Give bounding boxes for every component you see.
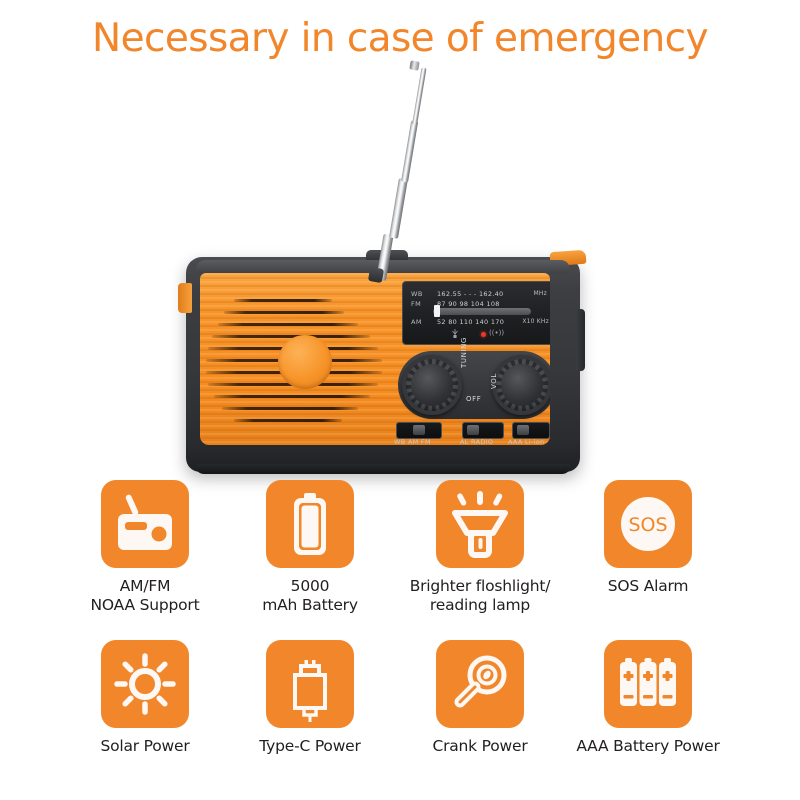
- battery-icon-tile: [266, 480, 354, 568]
- antenna-base: [368, 267, 384, 283]
- am-scale: 52 80 110 140 170: [437, 318, 504, 326]
- wb-scale: 162.55 - - - 162.40: [437, 290, 504, 298]
- band-switch-nub[interactable]: [413, 425, 425, 435]
- mode-switch-label: AL RADIO: [460, 438, 493, 445]
- aaa-batteries-icon-tile: [604, 640, 692, 728]
- left-side-tab: [178, 283, 192, 313]
- mode-switch-group[interactable]: AL RADIO: [462, 422, 504, 439]
- volume-knob[interactable]: [492, 355, 550, 415]
- battery-switch-nub[interactable]: [517, 425, 529, 435]
- feature-solar[interactable]: Solar Power: [60, 640, 230, 756]
- volume-knob-label: VOL: [490, 373, 498, 389]
- feature-label: 5000 mAh Battery: [225, 577, 395, 615]
- tuning-knob[interactable]: [402, 355, 462, 415]
- radio-icon-tile: [101, 480, 189, 568]
- antenna-segment: [401, 120, 418, 182]
- usb-plug-icon: [266, 640, 354, 728]
- antenna-tip: [409, 60, 419, 70]
- band-label-fm: FM: [411, 300, 421, 308]
- flashlight-icon: [436, 480, 524, 568]
- tuning-knob-label: TUNING: [460, 337, 468, 368]
- antenna-segment: [389, 178, 407, 239]
- feature-am-fm-noaa[interactable]: AM/FM NOAA Support: [60, 480, 230, 615]
- radio-front-face: WB 162.55 - - - 162.40 MHz FM 87 90 98 1…: [200, 273, 550, 445]
- product-photo: WB 162.55 - - - 162.40 MHz FM 87 90 98 1…: [0, 60, 800, 480]
- radio-base-foot: [196, 464, 570, 474]
- feature-sos[interactable]: SOS SOS Alarm: [563, 480, 733, 596]
- feature-label: Brighter floshlight/ reading lamp: [395, 577, 565, 615]
- feature-flashlight[interactable]: Brighter floshlight/ reading lamp: [395, 480, 565, 615]
- battery-switch-label: AAA Li-ion: [508, 438, 544, 445]
- battery-icon: [266, 480, 354, 568]
- band-switch-group[interactable]: WB AM FM: [396, 422, 442, 439]
- feature-label: Solar Power: [60, 737, 230, 756]
- signal-wave-icon: ((•)): [489, 329, 504, 337]
- right-side-strip: [576, 309, 585, 371]
- mode-switch-nub[interactable]: [467, 425, 479, 435]
- frequency-dial-display: WB 162.55 - - - 162.40 MHz FM 87 90 98 1…: [402, 281, 550, 345]
- sun-icon: [101, 640, 189, 728]
- fm-scale: 87 90 98 104 108: [437, 300, 500, 308]
- dial-track[interactable]: [433, 308, 531, 315]
- crank-icon: [436, 640, 524, 728]
- band-label-wb: WB: [411, 290, 423, 298]
- aaa-batteries-icon: [604, 640, 692, 728]
- dial-pointer[interactable]: [434, 305, 440, 317]
- page-title: Necessary in case of emergency: [0, 16, 800, 61]
- radio-body: WB 162.55 - - - 162.40 MHz FM 87 90 98 1…: [186, 257, 580, 472]
- knob-cradle: TUNING VOL OFF: [398, 351, 550, 419]
- radio-icon: [101, 480, 189, 568]
- feature-label: AM/FM NOAA Support: [60, 577, 230, 615]
- feature-grid: AM/FM NOAA Support 5000 mAh Battery Brig: [0, 480, 800, 800]
- antenna-segment: [412, 67, 427, 125]
- feature-label: Type-C Power: [225, 737, 395, 756]
- sos-icon: SOS: [604, 480, 692, 568]
- crank-icon-tile: [436, 640, 524, 728]
- usb-plug-icon-tile: [266, 640, 354, 728]
- feature-battery[interactable]: 5000 mAh Battery: [225, 480, 395, 615]
- unit-mhz: MHz: [534, 290, 547, 297]
- speaker-grille: [206, 293, 394, 431]
- off-label: OFF: [466, 395, 481, 403]
- feature-crank[interactable]: Crank Power: [395, 640, 565, 756]
- unit-khz: X10 KHz: [522, 318, 549, 325]
- lamp-indicator-icon: [451, 329, 459, 339]
- speaker-cone: [278, 335, 332, 389]
- flashlight-icon-tile: [436, 480, 524, 568]
- feature-aaa-battery[interactable]: AAA Battery Power: [563, 640, 733, 756]
- sos-text: SOS: [628, 514, 667, 536]
- sun-icon-tile: [101, 640, 189, 728]
- feature-label: AAA Battery Power: [563, 737, 733, 756]
- feature-label: Crank Power: [395, 737, 565, 756]
- feature-label: SOS Alarm: [563, 577, 733, 596]
- battery-switch-group[interactable]: AAA Li-ion: [512, 422, 550, 439]
- power-led-indicator: [481, 332, 486, 337]
- sos-icon-tile: SOS: [604, 480, 692, 568]
- feature-type-c[interactable]: Type-C Power: [225, 640, 395, 756]
- band-label-am: AM: [411, 318, 422, 326]
- band-switch-label: WB AM FM: [394, 438, 431, 445]
